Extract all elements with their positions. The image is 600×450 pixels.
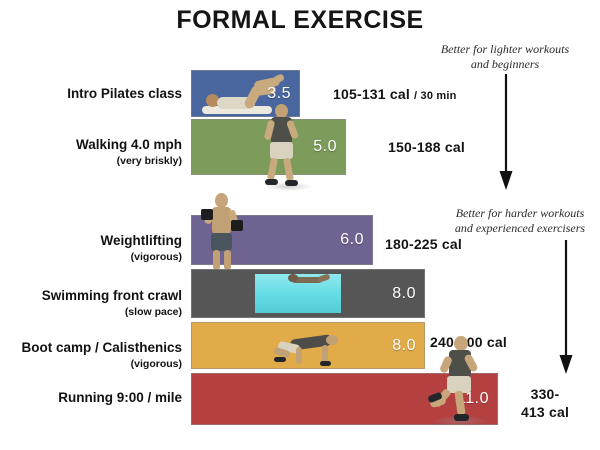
note-lighter-line2: and beginners [420, 57, 590, 72]
row-label-running-main: Running 9:00 / mile [58, 390, 182, 406]
calories-weightlifting: 180-225 cal [385, 236, 462, 252]
bar-walking: 5.0 [191, 119, 346, 175]
calories-running-line1: 330- [506, 386, 584, 404]
calories-swimming: 240-300 cal [430, 334, 507, 350]
calories-swimming-value: 240-300 cal [430, 334, 507, 350]
bar-value-walking: 5.0 [313, 138, 337, 156]
calories-pilates-unit: / 30 min [414, 90, 457, 102]
bar-value-pilates: 3.5 [267, 85, 291, 103]
row-label-weightlifting: Weightlifting (vigorous) [101, 233, 182, 263]
note-lighter-line1: Better for lighter workouts [420, 42, 590, 57]
row-label-walking: Walking 4.0 mph (very briskly) [76, 137, 182, 167]
calories-running-line2: 413 cal [506, 404, 584, 422]
note-harder-line1: Better for harder workouts [440, 206, 600, 221]
row-label-bootcamp: Boot camp / Calisthenics (vigorous) [21, 340, 182, 370]
calories-walking: 150-188 cal [388, 139, 465, 155]
row-label-swimming: Swimming front crawl (slow pace) [42, 288, 182, 318]
row-label-walking-main: Walking 4.0 mph [76, 137, 182, 153]
row-label-walking-sub: (very briskly) [76, 155, 182, 167]
calories-pilates-value: 105-131 cal [333, 86, 410, 102]
down-arrow-harder-icon [552, 240, 580, 376]
calories-running: 330- 413 cal [506, 386, 584, 421]
row-label-running: Running 9:00 / mile [58, 390, 182, 406]
bar-value-running: 11.0 [457, 390, 489, 408]
bar-bootcamp: 8.0 [191, 322, 425, 369]
calories-weightlifting-value: 180-225 cal [385, 236, 462, 252]
bootcamp-figure [274, 333, 350, 367]
row-label-pilates: Intro Pilates class [67, 86, 182, 102]
row-label-swimming-sub: (slow pace) [42, 306, 182, 318]
calories-pilates: 105-131 cal / 30 min [333, 86, 457, 102]
row-label-swimming-main: Swimming front crawl [42, 288, 182, 304]
note-harder-line2: and experienced exercisers [440, 221, 600, 236]
down-arrow-lighter-icon [492, 74, 520, 192]
row-label-weightlifting-main: Weightlifting [101, 233, 182, 249]
row-label-pilates-main: Intro Pilates class [67, 86, 182, 102]
row-label-bootcamp-main: Boot camp / Calisthenics [21, 340, 182, 356]
row-label-weightlifting-sub: (vigorous) [101, 251, 182, 263]
note-harder-workouts: Better for harder workouts and experienc… [440, 206, 600, 236]
bar-value-weightlifting: 6.0 [340, 231, 364, 249]
page-title: FORMAL EXERCISE [0, 6, 600, 35]
calories-walking-value: 150-188 cal [388, 139, 465, 155]
bar-value-bootcamp: 8.0 [392, 337, 416, 355]
bar-swimming: 8.0 [191, 269, 425, 318]
bar-pilates: 3.5 [191, 70, 300, 117]
bar-weightlifting: 6.0 [191, 215, 373, 265]
row-label-bootcamp-sub: (vigorous) [21, 358, 182, 370]
bar-running: 11.0 [191, 373, 498, 425]
bar-value-swimming: 8.0 [392, 285, 416, 303]
pool-water [255, 274, 341, 313]
infographic-canvas: FORMAL EXERCISE Better for lighter worko… [0, 0, 600, 450]
note-lighter-workouts: Better for lighter workouts and beginner… [420, 42, 590, 72]
